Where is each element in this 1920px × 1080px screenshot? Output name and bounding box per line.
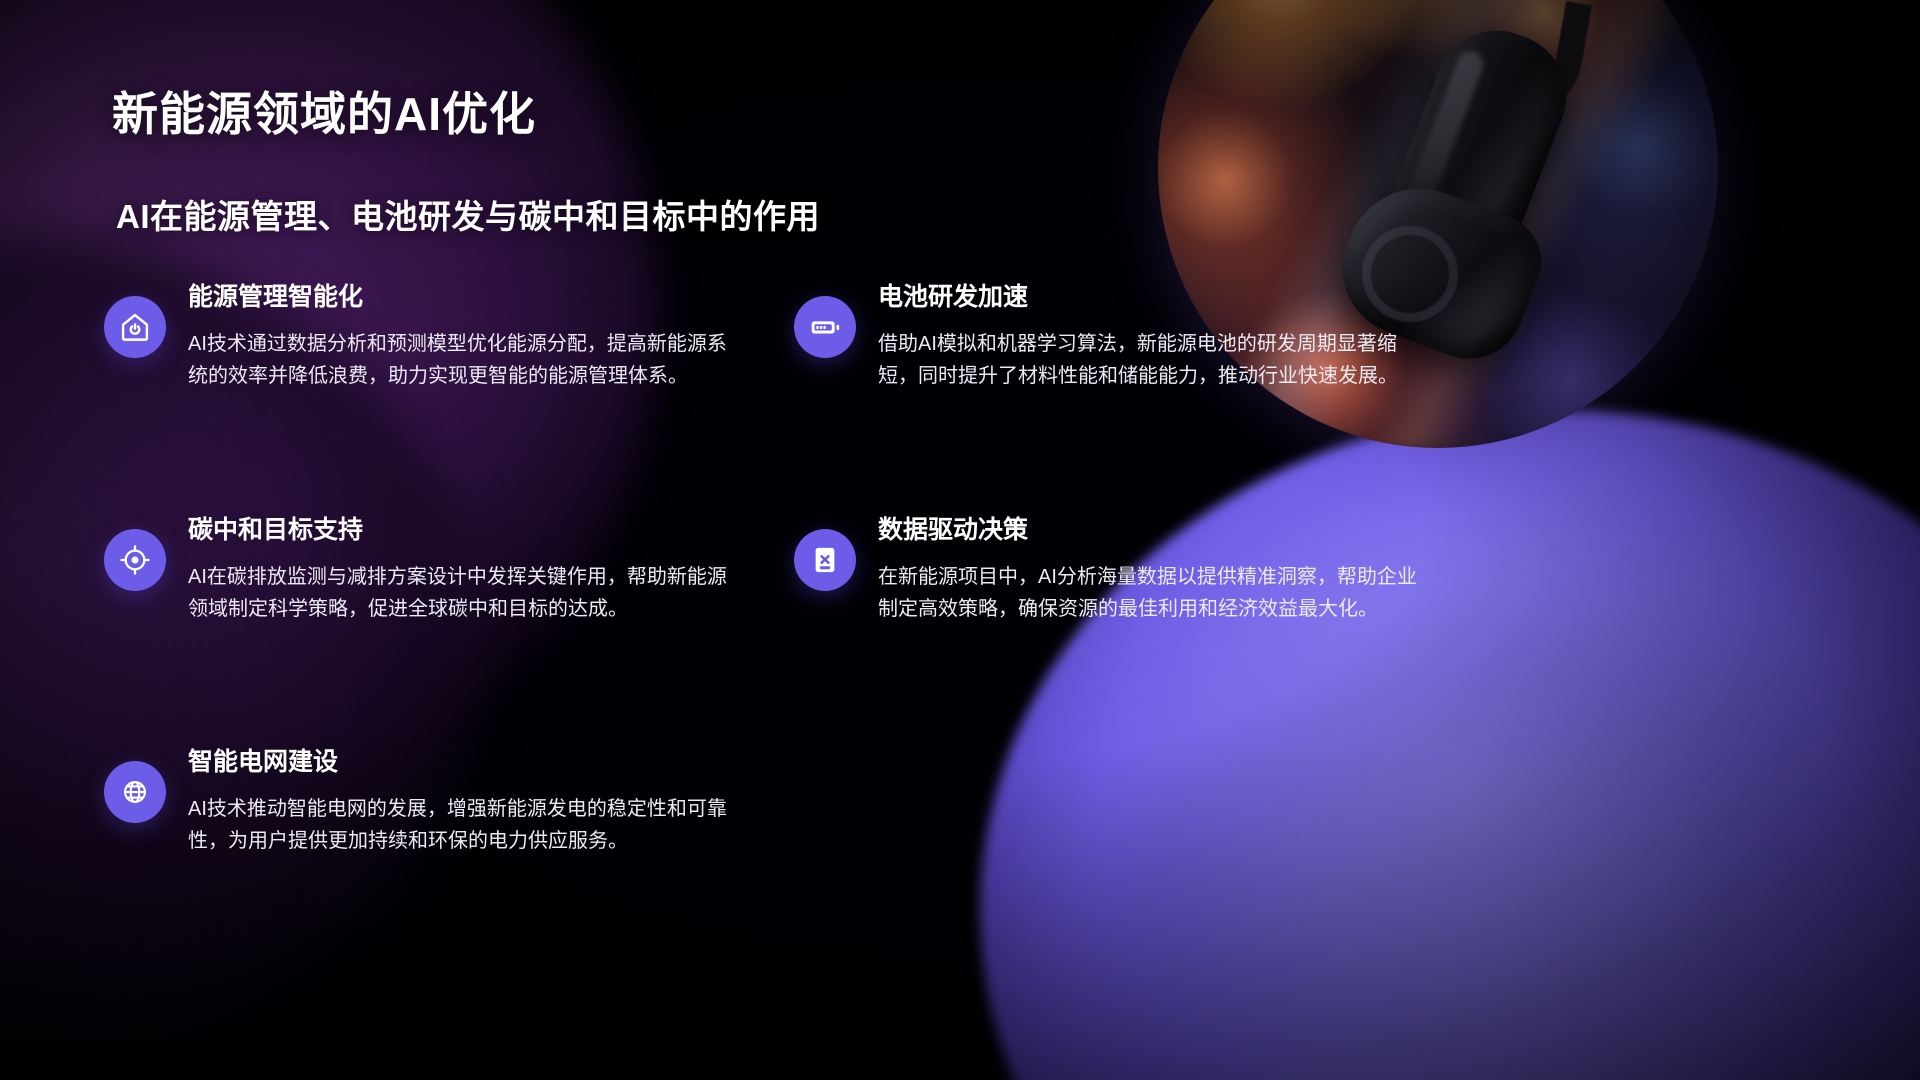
feature-title: 能源管理智能化 [188, 282, 728, 312]
feature-title: 智能电网建设 [188, 747, 728, 777]
feature-text-block: 能源管理智能化 AI技术通过数据分析和预测模型优化能源分配，提高新能源系统的效率… [188, 282, 728, 393]
feature-title: 碳中和目标支持 [188, 515, 728, 545]
page-subtitle: AI在能源管理、电池研发与碳中和目标中的作用 [116, 190, 820, 238]
feature-item-smart-grid: 智能电网建设 AI技术推动智能电网的发展，增强新能源发电的稳定性和可靠性，为用户… [104, 747, 744, 947]
feature-title: 电池研发加速 [878, 282, 1418, 312]
database-disk-icon [794, 529, 856, 591]
feature-item-battery-rnd: 电池研发加速 借助AI模拟和机器学习算法，新能源电池的研发周期显著缩短，同时提升… [794, 282, 1434, 515]
globe-grid-icon [104, 761, 166, 823]
feature-item-data-driven-decisions: 数据驱动决策 在新能源项目中，AI分析海量数据以提供精准洞察，帮助企业制定高效策… [794, 515, 1434, 747]
feature-description: 借助AI模拟和机器学习算法，新能源电池的研发周期显著缩短，同时提升了材料性能和储… [878, 328, 1418, 393]
slide-canvas: 新能源领域的AI优化 AI在能源管理、电池研发与碳中和目标中的作用 能源管理智能… [0, 0, 1920, 1080]
home-power-icon [104, 296, 166, 358]
target-crosshair-icon [104, 529, 166, 591]
feature-grid-empty-cell [794, 747, 1434, 947]
feature-grid: 能源管理智能化 AI技术通过数据分析和预测模型优化能源分配，提高新能源系统的效率… [104, 282, 1434, 947]
feature-item-carbon-neutral: 碳中和目标支持 AI在碳排放监测与减排方案设计中发挥关键作用，帮助新能源领域制定… [104, 515, 744, 747]
feature-description: AI技术通过数据分析和预测模型优化能源分配，提高新能源系统的效率并降低浪费，助力… [188, 328, 728, 393]
page-title: 新能源领域的AI优化 [112, 78, 536, 144]
feature-text-block: 数据驱动决策 在新能源项目中，AI分析海量数据以提供精准洞察，帮助企业制定高效策… [878, 515, 1418, 626]
feature-text-block: 智能电网建设 AI技术推动智能电网的发展，增强新能源发电的稳定性和可靠性，为用户… [188, 747, 728, 858]
feature-description: 在新能源项目中，AI分析海量数据以提供精准洞察，帮助企业制定高效策略，确保资源的… [878, 561, 1418, 626]
feature-text-block: 电池研发加速 借助AI模拟和机器学习算法，新能源电池的研发周期显著缩短，同时提升… [878, 282, 1418, 393]
feature-description: AI在碳排放监测与减排方案设计中发挥关键作用，帮助新能源领域制定科学策略，促进全… [188, 561, 728, 626]
feature-item-energy-management: 能源管理智能化 AI技术通过数据分析和预测模型优化能源分配，提高新能源系统的效率… [104, 282, 744, 515]
feature-title: 数据驱动决策 [878, 515, 1418, 545]
feature-text-block: 碳中和目标支持 AI在碳排放监测与减排方案设计中发挥关键作用，帮助新能源领域制定… [188, 515, 728, 626]
battery-icon [794, 296, 856, 358]
feature-description: AI技术推动智能电网的发展，增强新能源发电的稳定性和可靠性，为用户提供更加持续和… [188, 793, 728, 858]
